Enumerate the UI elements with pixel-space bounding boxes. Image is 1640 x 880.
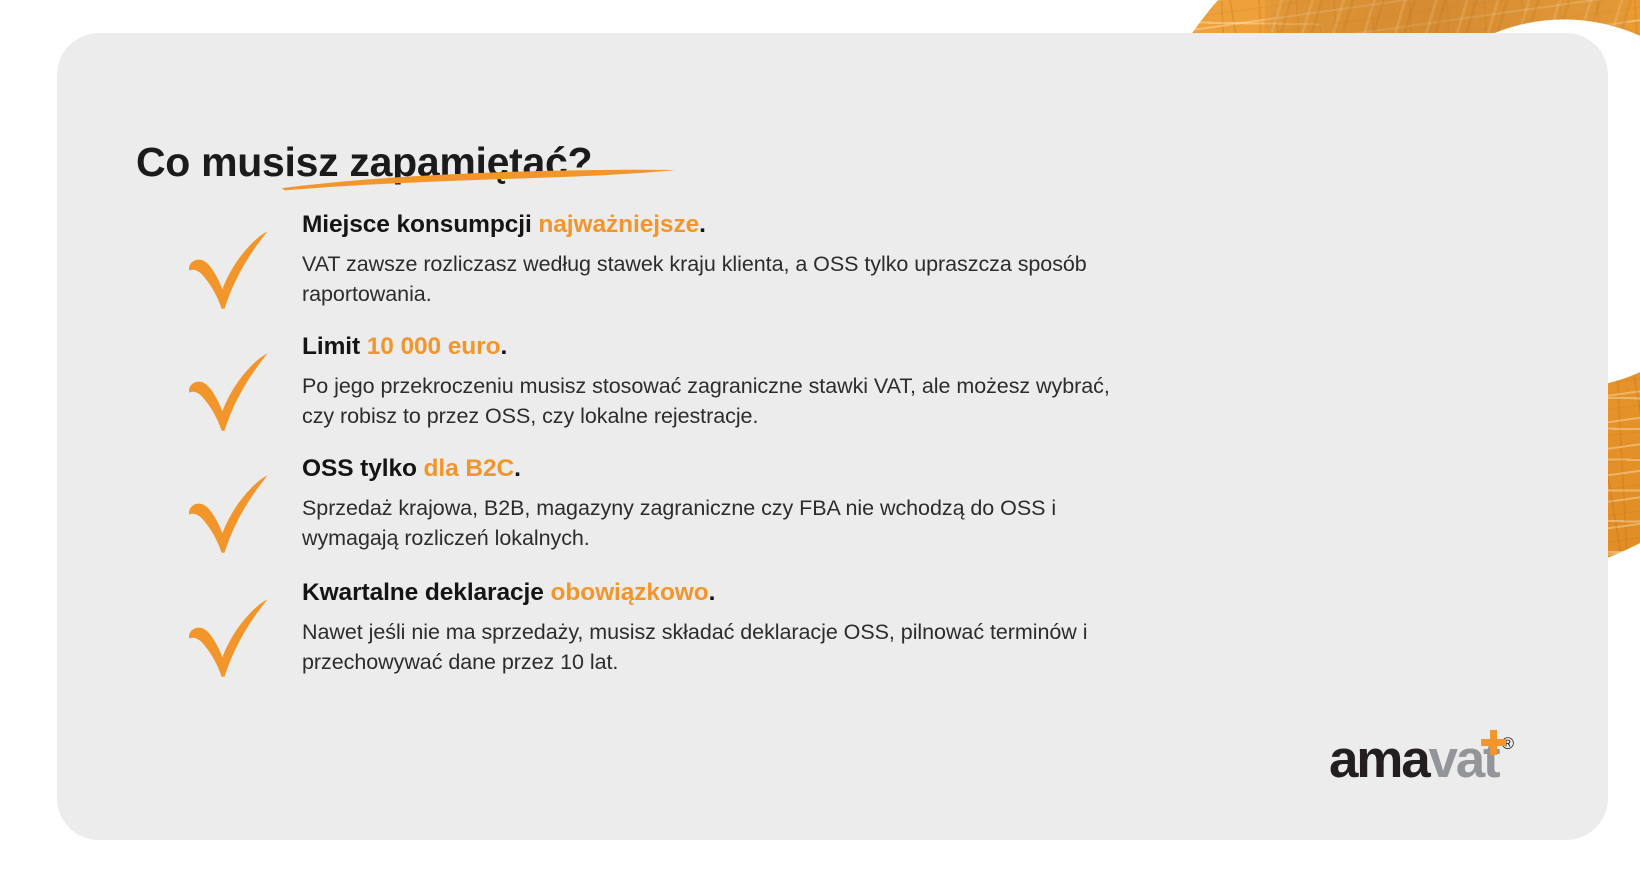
- heading-highlight: 10 000 euro: [367, 333, 501, 360]
- heading-prefix: OSS tylko: [302, 455, 424, 482]
- list-item-heading: Kwartalne deklaracje obowiązkowo.: [302, 579, 1196, 608]
- logo-wordmark: amavat: [1329, 733, 1499, 786]
- list-item-heading: OSS tylko dla B2C.: [302, 455, 1196, 484]
- list-item-text: VAT zawsze rozliczasz według stawek kraj…: [302, 249, 1142, 310]
- logo-text-ama: ama: [1329, 733, 1428, 786]
- list-item-body: Limit 10 000 euro. Po jego przekroczeniu…: [302, 333, 1196, 432]
- heading-prefix: Kwartalne deklaracje: [302, 579, 550, 606]
- list-item-body: OSS tylko dla B2C. Sprzedaż krajowa, B2B…: [302, 455, 1196, 554]
- list-item-heading: Limit 10 000 euro.: [302, 333, 1196, 362]
- list-item: Kwartalne deklaracje obowiązkowo. Nawet …: [136, 579, 1196, 697]
- list-item-text: Sprzedaż krajowa, B2B, magazyny zagranic…: [302, 493, 1142, 554]
- list-item-body: Kwartalne deklaracje obowiązkowo. Nawet …: [302, 579, 1196, 678]
- list-item: Limit 10 000 euro. Po jego przekroczeniu…: [136, 333, 1196, 451]
- heading-highlight: dla B2C: [424, 455, 515, 482]
- logo-text-va: va: [1428, 733, 1483, 786]
- checkmark-icon: [186, 475, 270, 553]
- heading-suffix: .: [500, 333, 507, 360]
- heading-prefix: Miejsce konsumpcji: [302, 211, 538, 238]
- checkmark-icon: [186, 231, 270, 309]
- heading-highlight: najważniejsze: [538, 211, 699, 238]
- list-item-text: Nawet jeśli nie ma sprzedaży, musisz skł…: [302, 617, 1142, 678]
- amavat-logo: amavat ®: [1329, 733, 1514, 787]
- list-item: OSS tylko dla B2C. Sprzedaż krajowa, B2B…: [136, 455, 1196, 573]
- list-item-heading: Miejsce konsumpcji najważniejsze.: [302, 211, 1196, 240]
- checkmark-icon: [186, 599, 270, 677]
- list-item-body: Miejsce konsumpcji najważniejsze. VAT za…: [302, 211, 1196, 310]
- heading-suffix: .: [709, 579, 716, 606]
- title-underline-brush: [279, 165, 679, 191]
- key-points-list: Miejsce konsumpcji najważniejsze. VAT za…: [136, 211, 1196, 697]
- checkmark-icon: [186, 353, 270, 431]
- orange-plus-icon: [1481, 730, 1506, 755]
- poster-canvas: Co musisz zapamiętać? Miejsce konsumpcji…: [0, 0, 1640, 880]
- heading-suffix: .: [514, 455, 521, 482]
- heading-suffix: .: [699, 211, 706, 238]
- list-item: Miejsce konsumpcji najważniejsze. VAT za…: [136, 211, 1196, 329]
- logo-text-t-group: t: [1483, 733, 1498, 786]
- heading-prefix: Limit: [302, 333, 367, 360]
- heading-highlight: obowiązkowo: [550, 579, 708, 606]
- list-item-text: Po jego przekroczeniu musisz stosować za…: [302, 371, 1142, 432]
- content-card: Co musisz zapamiętać? Miejsce konsumpcji…: [57, 33, 1608, 840]
